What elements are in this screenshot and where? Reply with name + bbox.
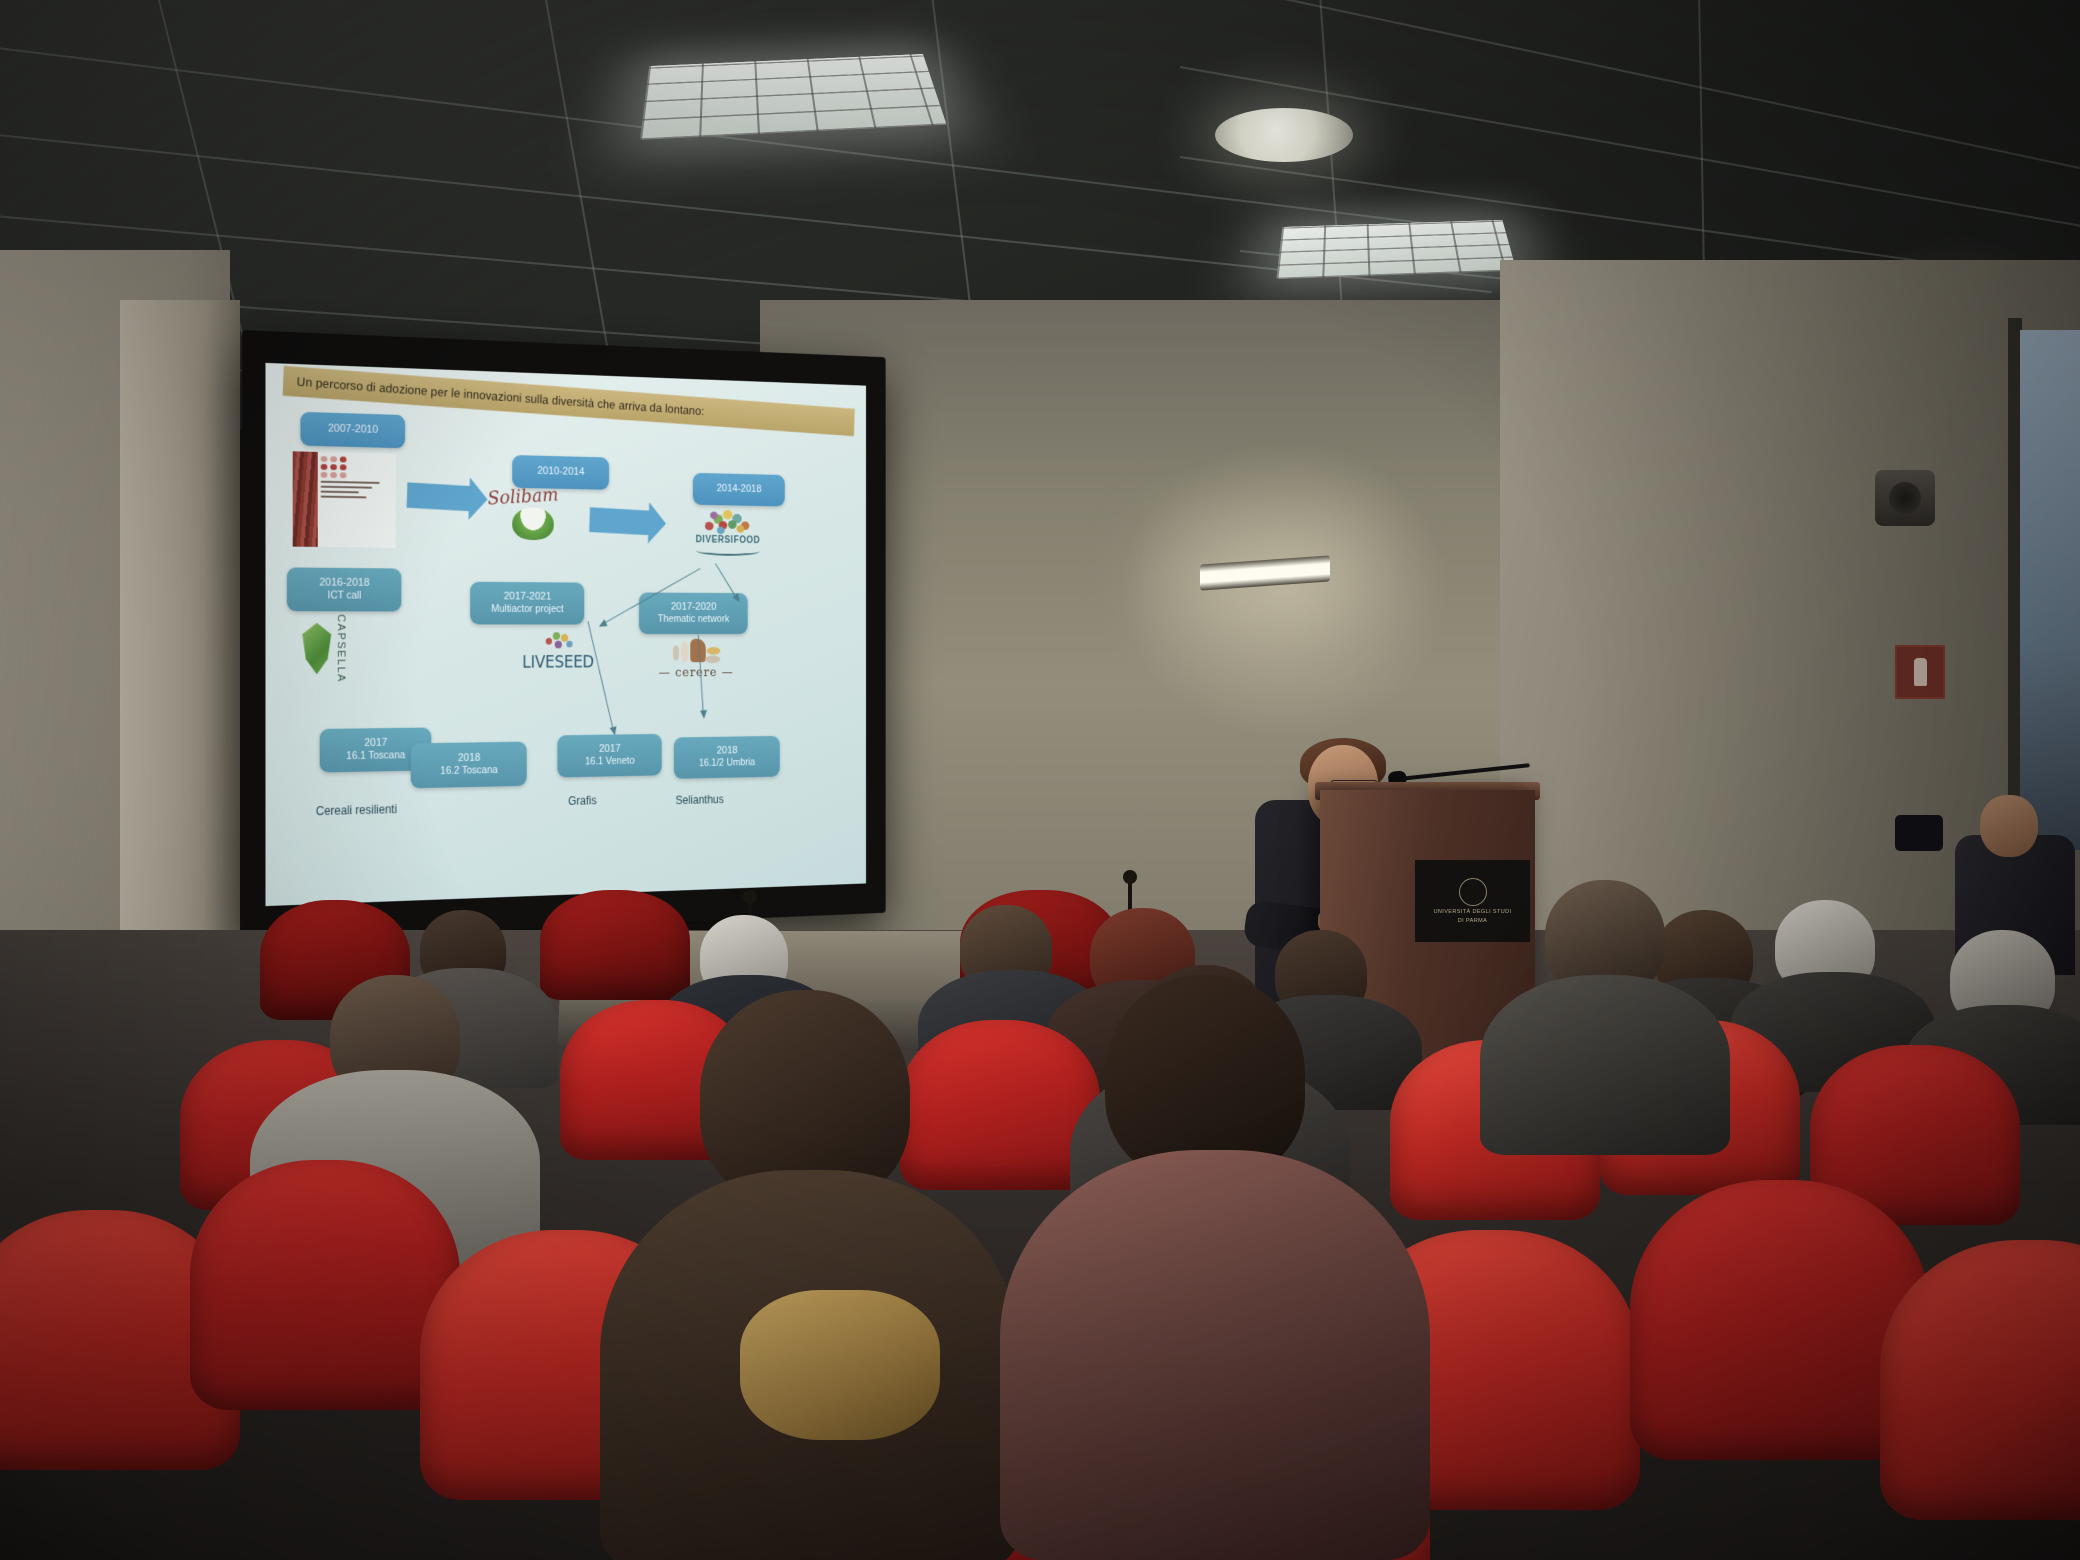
- logo-liveseed: LIVESEED: [509, 630, 608, 672]
- period-label: 2016-2018: [319, 576, 369, 590]
- period-label: 2014-2018: [717, 483, 762, 497]
- period-label: 2017-2020: [671, 601, 716, 614]
- measure-box-2017-veneto: 2017 16.1 Veneto: [557, 734, 661, 778]
- solibam-plant-icon: [512, 507, 554, 540]
- period-subtitle: ICT call: [328, 590, 362, 603]
- period-label: 2007-2010: [328, 423, 378, 438]
- window: [2020, 330, 2080, 850]
- wall-speaker: [1875, 470, 1935, 526]
- bottom-label-selianthus: Selianthus: [676, 793, 724, 807]
- logo-farmseed: [293, 451, 396, 548]
- timeline-box-2010-2014: 2010-2014: [512, 455, 609, 490]
- period-label: 2010-2014: [537, 465, 584, 479]
- projection-screen: Un percorso di adozione per le innovazio…: [242, 330, 886, 940]
- liveseed-tree-icon: [542, 630, 574, 653]
- measure-year: 2017: [364, 736, 387, 750]
- measure-box-2018-umbria: 2018 16.1/2 Umbria: [674, 736, 780, 779]
- logo-capsella-label: CAPSELLA: [335, 614, 346, 683]
- logo-capsella: CAPSELLA: [302, 614, 346, 683]
- bottom-label-grafis: Grafis: [568, 794, 597, 808]
- logo-cerere: — cerere —: [655, 638, 738, 680]
- timeline-box-2017-2021: 2017-2021 Multiactor project: [470, 582, 584, 625]
- timeline-box-2017-2020: 2017-2020 Thematic network: [639, 592, 748, 634]
- sconce-glow: [1120, 440, 1450, 740]
- slide-title: Un percorso di adozione per le innovazio…: [297, 375, 705, 418]
- measure-code: 16.2 Toscana: [440, 765, 497, 779]
- logo-solibam-label: Solibam: [487, 484, 559, 509]
- ceiling-dome-light: [1215, 108, 1353, 162]
- plaque-line-2: DI PARMA: [1458, 918, 1487, 924]
- ceiling-panel-light: [1276, 220, 1516, 279]
- wall-column: [120, 300, 240, 1020]
- plaque-line-1: UNIVERSITÀ DEGLI STUDI: [1434, 909, 1512, 915]
- diversifood-arc: [696, 546, 759, 556]
- flow-arrow: [407, 482, 473, 511]
- logo-diversifood: DIVERSIFOOD: [672, 508, 783, 556]
- period-subtitle: Multiactor project: [491, 603, 563, 616]
- measure-year: 2018: [458, 752, 481, 766]
- logo-diversifood-label: DIVERSIFOOD: [672, 534, 783, 546]
- capsella-leaf-icon: [302, 623, 331, 675]
- camera-device: [1895, 815, 1943, 851]
- logo-cerere-label: — cerere —: [655, 666, 738, 681]
- camera-operator-head: [1980, 795, 2038, 857]
- measure-code: 16.1 Veneto: [585, 755, 635, 768]
- presentation-slide: Un percorso di adozione per le innovazio…: [265, 363, 866, 906]
- thumbnail-strip: [293, 451, 318, 547]
- timeline-box-2007-2010: 2007-2010: [300, 412, 405, 449]
- thumbnail-content: [318, 452, 396, 548]
- flow-arrow: [589, 507, 651, 535]
- measure-year: 2018: [717, 744, 738, 757]
- measure-year: 2017: [599, 743, 621, 756]
- seat: [540, 890, 690, 1000]
- logo-solibam: Solibam: [488, 485, 578, 540]
- scarf: [740, 1290, 940, 1440]
- timeline-box-2014-2018: 2014-2018: [693, 473, 785, 507]
- measure-code: 16.1/2 Umbria: [699, 757, 755, 770]
- fire-extinguisher-icon: [1914, 658, 1927, 686]
- screen-canvas: Un percorso di adozione per le innovazio…: [265, 363, 866, 906]
- period-subtitle: Thematic network: [658, 614, 729, 626]
- period-label: 2017-2021: [504, 590, 552, 603]
- measure-code: 16.1 Toscana: [346, 750, 405, 764]
- podium-plaque: UNIVERSITÀ DEGLI STUDI DI PARMA: [1415, 860, 1530, 942]
- diversifood-seed-cluster-icon: [698, 509, 758, 536]
- lecture-hall-photo: Un percorso di adozione per le innovazio…: [0, 0, 2080, 1560]
- measure-box-2018-toscana: 2018 16.2 Toscana: [411, 742, 527, 789]
- logo-liveseed-label: LIVESEED: [509, 653, 608, 673]
- bottom-label-cereali: Cereali resilienti: [316, 802, 397, 818]
- fire-extinguisher-sign: [1895, 645, 1945, 699]
- cerere-icon: [670, 638, 723, 666]
- university-seal-icon: [1459, 878, 1487, 906]
- timeline-box-2016-2018: 2016-2018 ICT call: [287, 567, 401, 611]
